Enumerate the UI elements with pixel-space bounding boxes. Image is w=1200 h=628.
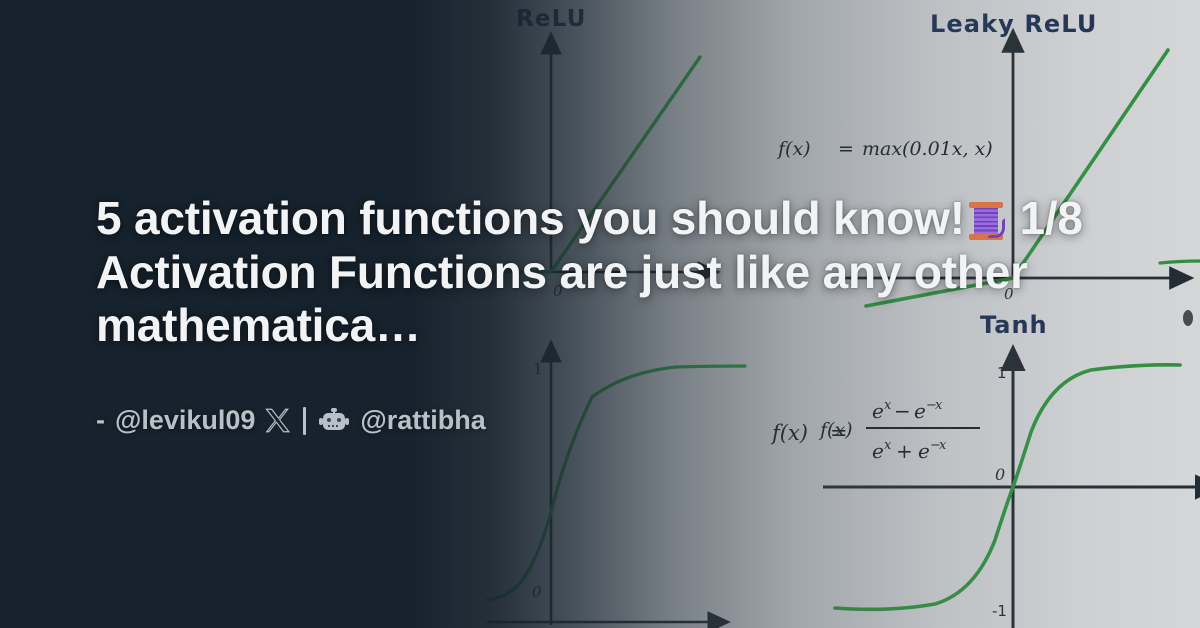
robot-mouth <box>328 425 340 427</box>
robot-icon <box>319 409 349 433</box>
attribution-dash: - <box>96 405 105 436</box>
x-logo-icon[interactable] <box>265 408 290 433</box>
page-title: 5 activation functions you should know! … <box>96 192 1104 353</box>
robot-ear-right <box>345 418 349 425</box>
thread-spool-icon <box>967 201 1005 241</box>
social-share-card: ReLU 0 Leaky ReLU 0 f(x) = max(0.01x, x)… <box>0 0 1200 628</box>
headline-line-1: 5 activation functions you should <box>96 192 820 244</box>
headline-line-2-pre: know! <box>833 192 965 244</box>
separator-pipe <box>303 407 306 435</box>
spool-thread-tail <box>987 218 1005 238</box>
attribution-author-handle[interactable]: @levikul09 <box>115 405 255 436</box>
robot-antenna-tip <box>331 408 337 412</box>
spool-cap-top <box>969 202 1003 208</box>
attribution-service-handle[interactable]: @rattibha <box>360 405 485 436</box>
attribution: - @levikul09 @rattibha <box>96 405 1104 436</box>
card-content: 5 activation functions you should know! … <box>0 0 1200 628</box>
